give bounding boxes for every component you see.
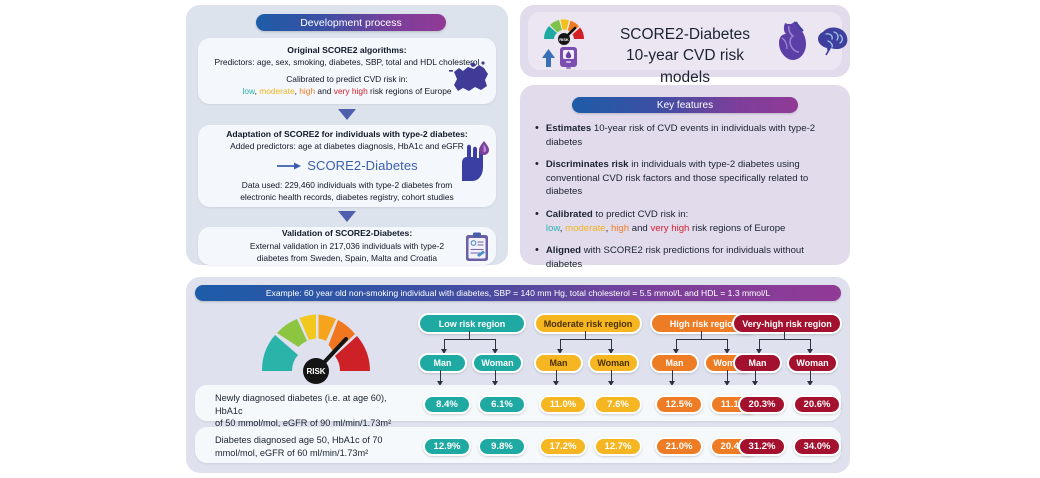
key-feature-text-2: Discriminates risk in individuals with t… <box>546 158 837 199</box>
kf-risk-moderate: moderate <box>565 223 606 234</box>
example-title: Example: 60 year old non-smoking individ… <box>195 285 841 301</box>
step1-heading: Original SCORE2 algorithms: <box>198 45 496 56</box>
right-arrow-icon <box>276 161 302 171</box>
kf2-bold: Discriminates risk <box>546 159 629 170</box>
risk-tail: risk regions of Europe <box>368 86 452 96</box>
kf1-bold: Estimates <box>546 123 591 134</box>
key-feature-item-1: • Estimates 10-year risk of CVD events i… <box>535 122 837 149</box>
connector-bar-moderate <box>560 339 612 340</box>
gauge-risk-label: RISK <box>306 367 325 376</box>
step2-data-used-1: Data used: 229,460 individuals with type… <box>198 180 496 191</box>
value-row1-moderate-man[interactable]: 11.0% <box>539 395 587 414</box>
example-panel: Example: 60 year old non-smoking individ… <box>186 277 850 473</box>
risk-gauge-icon: RISK <box>538 15 594 69</box>
step-validation: Validation of SCORE2-Diabetes: External … <box>198 227 496 265</box>
risk-word-moderate: moderate <box>259 86 294 96</box>
header-title-line2: 10-year CVD risk models <box>600 45 770 88</box>
connector-tick-moderate <box>585 331 586 339</box>
brain-icon <box>814 24 852 58</box>
sex-pill-very-high-woman[interactable]: Woman <box>787 353 838 373</box>
svg-text:RISK: RISK <box>559 37 569 42</box>
connector-tick-high <box>701 331 702 339</box>
connector-bar-very-high <box>759 339 811 340</box>
value-row2-moderate-man[interactable]: 17.2% <box>539 437 587 456</box>
sex-pill-low-woman[interactable]: Woman <box>472 353 523 373</box>
step3-heading: Validation of SCORE2-Diabetes: <box>198 228 496 239</box>
step3-line2: External validation in 217,036 individua… <box>198 241 496 252</box>
region-pill-moderate[interactable]: Moderate risk region <box>534 313 642 334</box>
value-row1-very-high-woman[interactable]: 20.6% <box>793 395 841 414</box>
value-row2-low-woman[interactable]: 9.8% <box>478 437 526 456</box>
bullet-icon: • <box>535 158 539 199</box>
kf-risk-very-high: very high <box>650 223 689 234</box>
result-row-2: Diabetes diagnosed age 50, HbA1c of 70 m… <box>195 427 841 463</box>
region-pill-very-high[interactable]: Very-high risk region <box>732 313 842 334</box>
value-row2-very-high-man[interactable]: 31.2% <box>738 437 786 456</box>
heart-icon <box>776 18 812 62</box>
clipboard-icon <box>464 232 490 262</box>
key-features-list: • Estimates 10-year risk of CVD events i… <box>535 122 837 303</box>
step2-arrow-row: SCORE2-Diabetes <box>198 157 496 174</box>
step3-line3: diabetes from Sweden, Spain, Malta and C… <box>198 253 496 264</box>
header-banner-inner: RISK SCORE2-Diabetes 10-year CVD risk mo… <box>528 12 842 70</box>
value-row1-very-high-man[interactable]: 20.3% <box>738 395 786 414</box>
connector-tick-very-high <box>784 331 785 339</box>
region-pill-low[interactable]: Low risk region <box>418 313 526 334</box>
kf-risk-high: high <box>611 223 629 234</box>
step-adaptation: Adaptation of SCORE2 for individuals wit… <box>198 125 496 207</box>
key-feature-item-2: • Discriminates risk in individuals with… <box>535 158 837 199</box>
infographic-root: Development process Original SCORE2 algo… <box>0 0 1040 478</box>
risk-sep-3: and <box>315 86 334 96</box>
value-row1-low-man[interactable]: 8.4% <box>423 395 471 414</box>
row-2-label-line2: mmol/mol, eGFR of 60 ml/min/1.73m² <box>215 447 405 460</box>
key-features-panel: Key features • Estimates 10-year risk of… <box>520 85 850 265</box>
development-process-title: Development process <box>256 14 446 31</box>
connector-tick-low <box>469 331 470 339</box>
header-banner-panel: RISK SCORE2-Diabetes 10-year CVD risk mo… <box>520 5 850 77</box>
flow-arrow-2 <box>338 211 356 222</box>
key-feature-item-4: • Aligned with SCORE2 risk predictions f… <box>535 244 837 271</box>
step2-data-used-2: electronic health records, diabetes regi… <box>198 192 496 203</box>
risk-word-low: low <box>242 86 254 96</box>
kf4-rest: with SCORE2 risk predictions for individ… <box>546 245 804 270</box>
sex-pill-very-high-man[interactable]: Man <box>733 353 782 373</box>
step2-heading: Adaptation of SCORE2 for individuals wit… <box>198 129 496 140</box>
sex-pill-moderate-woman[interactable]: Woman <box>588 353 639 373</box>
key-feature-item-3: • Calibrated to predict CVD risk in: low… <box>535 208 837 235</box>
kf-risk-tail: risk regions of Europe <box>689 223 785 234</box>
key-feature-text-3: Calibrated to predict CVD risk in: low, … <box>546 208 786 235</box>
development-process-panel: Development process Original SCORE2 algo… <box>186 5 508 265</box>
value-row2-low-man[interactable]: 12.9% <box>423 437 471 456</box>
example-risk-gauge-icon: RISK <box>254 305 378 385</box>
value-row1-low-woman[interactable]: 6.1% <box>478 395 526 414</box>
step2-added-predictors: Added predictors: age at diabetes diagno… <box>198 141 496 152</box>
row-1-label: Newly diagnosed diabetes (i.e. at age 60… <box>215 392 405 430</box>
header-title: SCORE2-Diabetes 10-year CVD risk models <box>600 24 770 88</box>
flow-arrow-1 <box>338 109 356 120</box>
header-title-line1: SCORE2-Diabetes <box>600 24 770 45</box>
row-2-label: Diabetes diagnosed age 50, HbA1c of 70 m… <box>215 434 405 459</box>
value-row1-moderate-woman[interactable]: 7.6% <box>594 395 642 414</box>
sex-pill-moderate-man[interactable]: Man <box>534 353 583 373</box>
key-features-title: Key features <box>572 97 798 113</box>
result-row-1: Newly diagnosed diabetes (i.e. at age 60… <box>195 385 841 421</box>
risk-word-high: high <box>299 86 315 96</box>
row-2-label-line1: Diabetes diagnosed age 50, HbA1c of 70 <box>215 434 405 447</box>
sex-pill-high-man[interactable]: Man <box>650 353 699 373</box>
bullet-icon: • <box>535 208 539 235</box>
value-row2-high-man[interactable]: 21.0% <box>655 437 703 456</box>
hand-glucose-drop-icon <box>454 137 490 183</box>
score2-diabetes-label: SCORE2-Diabetes <box>307 157 418 174</box>
kf3-rest: to predict CVD risk in: <box>593 209 688 220</box>
key-feature-text-1: Estimates 10-year risk of CVD events in … <box>546 122 837 149</box>
bullet-icon: • <box>535 244 539 271</box>
kf4-bold: Aligned <box>546 245 581 256</box>
connector-bar-low <box>444 339 496 340</box>
kf-risk-low: low <box>546 223 560 234</box>
connector-bar-high <box>676 339 728 340</box>
kf3-bold: Calibrated <box>546 209 593 220</box>
sex-pill-low-man[interactable]: Man <box>418 353 467 373</box>
value-row2-moderate-woman[interactable]: 12.7% <box>594 437 642 456</box>
value-row2-very-high-woman[interactable]: 34.0% <box>793 437 841 456</box>
bullet-icon: • <box>535 122 539 149</box>
step-original-score2: Original SCORE2 algorithms: Predictors: … <box>198 38 496 104</box>
risk-word-very-high: very high <box>334 86 368 96</box>
key-feature-text-4: Aligned with SCORE2 risk predictions for… <box>546 244 837 271</box>
europe-map-icon <box>448 58 492 98</box>
value-row1-high-man[interactable]: 12.5% <box>655 395 703 414</box>
row-1-label-line1: Newly diagnosed diabetes (i.e. at age 60… <box>215 392 405 417</box>
